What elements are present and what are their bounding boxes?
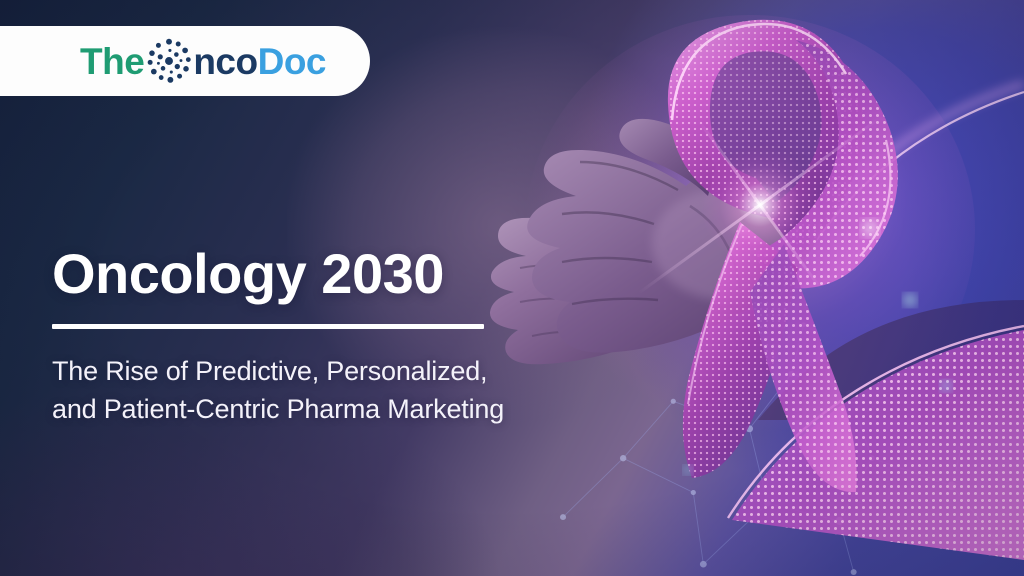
subtitle-line-2: and Patient-Centric Pharma Marketing [52,394,504,424]
headline-block: Oncology 2030 The Rise of Predictive, Pe… [52,244,672,428]
logo-badge[interactable]: The [0,26,370,96]
title-divider [52,324,484,329]
cell-molecule-icon [146,38,192,84]
promo-banner: The [0,0,1024,576]
subtitle-line-1: The Rise of Predictive, Personalized, [52,356,487,386]
page-subtitle: The Rise of Predictive, Personalized, an… [52,353,672,428]
logo-text-nco: nco [193,43,257,80]
logo-text-doc: Doc [258,43,326,80]
logo-wordmark: The [80,38,326,84]
page-title: Oncology 2030 [52,244,672,303]
logo-text-the: The [80,43,144,80]
